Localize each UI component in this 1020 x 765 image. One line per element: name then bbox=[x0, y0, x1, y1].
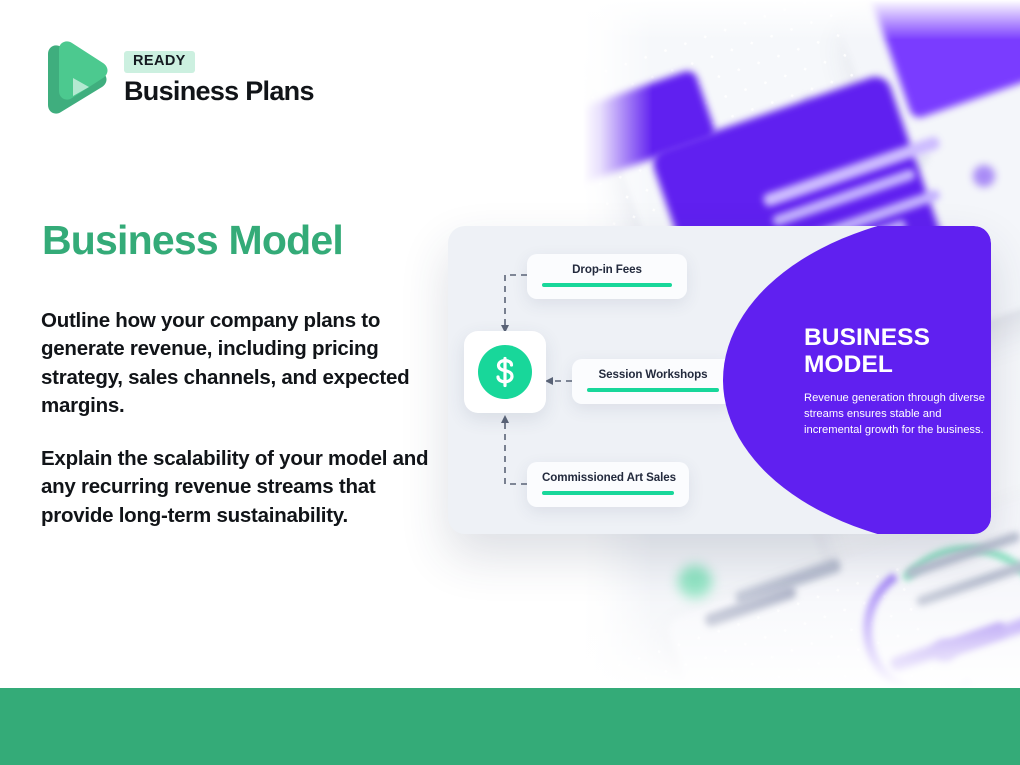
brand-name: Business Plans bbox=[124, 77, 314, 105]
panel-description: Revenue generation through diverse strea… bbox=[804, 390, 991, 439]
dollar-sign-icon bbox=[478, 345, 532, 399]
stream-node-session-workshops[interactable]: Session Workshops bbox=[572, 359, 734, 404]
play-triangle-logo-icon bbox=[42, 38, 110, 118]
brand-lockup: READY Business Plans bbox=[42, 38, 314, 118]
footer-bar bbox=[0, 688, 1020, 765]
revenue-hub-node bbox=[464, 331, 546, 413]
body-paragraph-1: Outline how your company plans to genera… bbox=[41, 307, 436, 420]
body-copy: Outline how your company plans to genera… bbox=[41, 307, 436, 530]
decorative-dot bbox=[973, 165, 995, 187]
stream-underline bbox=[587, 388, 719, 392]
ready-badge: READY bbox=[124, 51, 195, 73]
deck-fade-bottom bbox=[583, 578, 1020, 688]
stream-underline bbox=[542, 283, 672, 287]
stream-node-commissioned-art-sales[interactable]: Commissioned Art Sales bbox=[527, 462, 689, 507]
stream-node-drop-in-fees[interactable]: Drop-in Fees bbox=[527, 254, 687, 299]
stream-underline bbox=[542, 491, 674, 495]
business-model-card: Drop-in Fees Session Workshops Commissio… bbox=[448, 226, 991, 534]
body-paragraph-2: Explain the scalability of your model an… bbox=[41, 445, 436, 530]
slide-canvas: READY Business Plans Business Model Outl… bbox=[0, 0, 1020, 765]
page-title: Business Model bbox=[42, 218, 343, 263]
panel-title: BUSINESS MODEL bbox=[804, 324, 991, 379]
deck-fade-top bbox=[583, 0, 1020, 40]
stream-label: Session Workshops bbox=[587, 368, 719, 381]
stream-label: Commissioned Art Sales bbox=[542, 471, 674, 484]
stream-label: Drop-in Fees bbox=[542, 263, 672, 276]
